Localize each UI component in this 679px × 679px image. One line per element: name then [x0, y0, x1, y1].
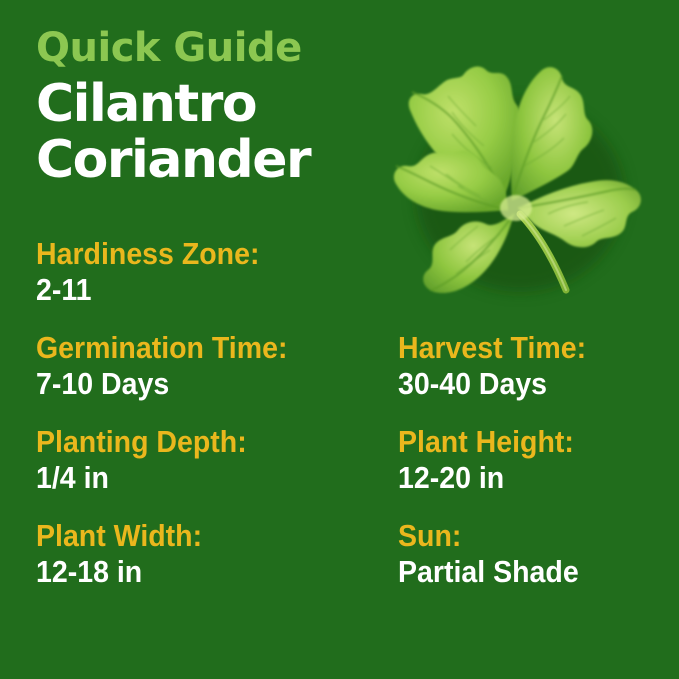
spec-cell-planting-depth: Planting Depth: 1/4 in: [36, 424, 398, 496]
spec-value: 12-20 in: [398, 460, 635, 496]
spec-row-width-sun: Plant Width: 12-18 in Sun: Partial Shade: [36, 518, 656, 590]
spec-row-hardiness: Hardiness Zone: 2-11: [36, 236, 656, 308]
spec-label: Plant Width:: [36, 518, 369, 554]
spec-cell-plant-height: Plant Height: 12-20 in: [398, 424, 656, 496]
spec-label: Hardiness Zone:: [36, 236, 369, 272]
spec-cell-sun: Sun: Partial Shade: [398, 518, 656, 590]
spec-row-germination-harvest: Germination Time: 7-10 Days Harvest Time…: [36, 330, 656, 402]
spec-value: 1/4 in: [36, 460, 369, 496]
spec-label: Harvest Time:: [398, 330, 635, 366]
spec-label: Sun:: [398, 518, 635, 554]
spec-value: 30-40 Days: [398, 366, 635, 402]
spec-cell-plant-width: Plant Width: 12-18 in: [36, 518, 398, 590]
spec-cell-germination-time: Germination Time: 7-10 Days: [36, 330, 398, 402]
spec-grid: Hardiness Zone: 2-11 Germination Time: 7…: [36, 236, 656, 590]
spec-value: 2-11: [36, 272, 369, 308]
spec-label: Plant Height:: [398, 424, 635, 460]
spec-value: 12-18 in: [36, 554, 369, 590]
spec-row-depth-height: Planting Depth: 1/4 in Plant Height: 12-…: [36, 424, 656, 496]
spec-value: Partial Shade: [398, 554, 635, 590]
spec-cell-hardiness-zone: Hardiness Zone: 2-11: [36, 236, 398, 308]
spec-label: Planting Depth:: [36, 424, 369, 460]
quick-guide-infographic: Quick Guide Cilantro Coriander: [0, 0, 679, 679]
page-title-line-1: Cilantro: [36, 76, 376, 132]
eyebrow-quick-guide: Quick Guide: [36, 26, 376, 70]
spec-value: 7-10 Days: [36, 366, 369, 402]
header-block: Quick Guide Cilantro Coriander: [36, 26, 376, 188]
page-title-line-2: Coriander: [36, 132, 376, 188]
spec-label: Germination Time:: [36, 330, 369, 366]
spec-cell-harvest-time: Harvest Time: 30-40 Days: [398, 330, 656, 402]
